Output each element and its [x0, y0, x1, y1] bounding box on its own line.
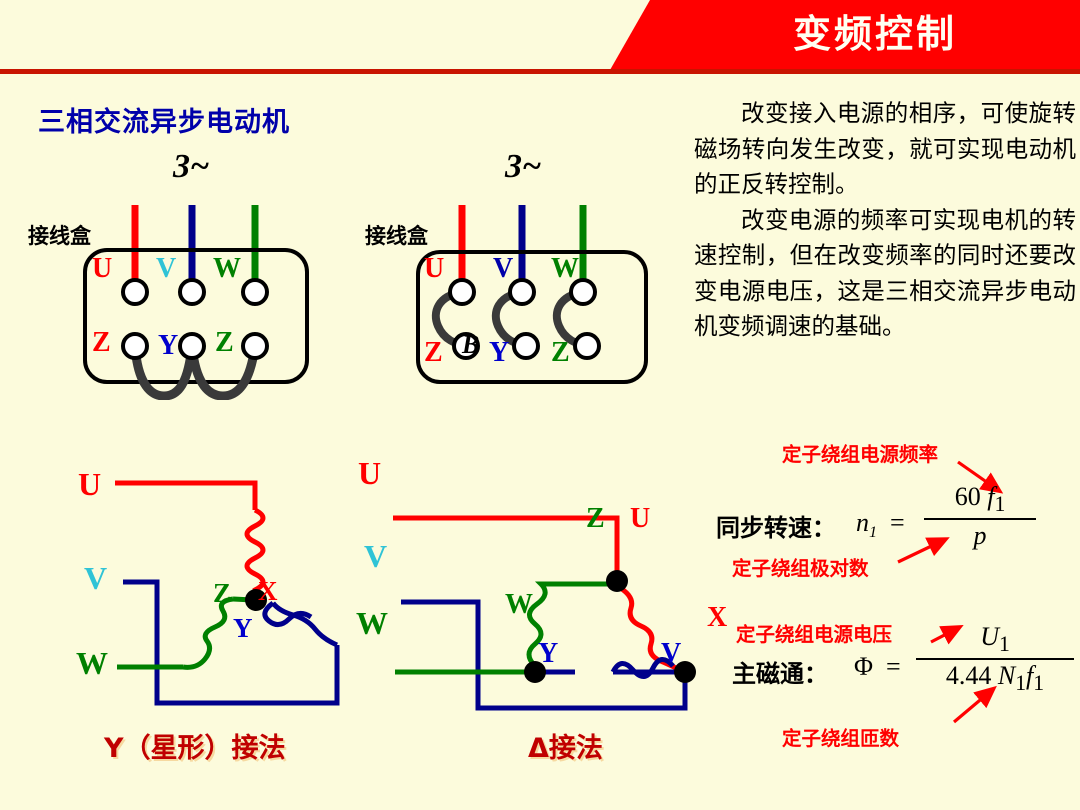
delta-wire-u — [393, 518, 617, 578]
delta-input-w: W — [356, 605, 388, 642]
delta-box-outline — [418, 252, 646, 382]
delta-caption: Δ接法 — [528, 726, 603, 765]
star-input-u: U — [78, 466, 101, 503]
flux-lhs: Φ — [854, 652, 873, 682]
delta-vertex-u: U — [630, 503, 650, 535]
star-label-u: U — [92, 253, 112, 285]
section-title: 三相交流异步电动机 — [38, 100, 290, 139]
delta-label-z1: Z — [424, 337, 443, 369]
formula-block: 定子绕组电源频率 同步转速： n1 = 60 f1 p 定子绕组极对数 — [694, 436, 1080, 766]
speed-arrow-to-p — [894, 532, 966, 568]
flux-fraction-bar — [916, 658, 1074, 660]
speed-num-const: 60 — [955, 482, 981, 511]
star-terminal-box-diagram — [60, 200, 390, 400]
delta-terminal-y — [514, 334, 538, 358]
star-node-y: Y — [233, 613, 253, 644]
star-label-y: Y — [158, 330, 178, 362]
delta-label-z2: Z — [551, 337, 570, 369]
delta-stray-glyph: B — [462, 330, 479, 360]
delta-vertex-z: Z — [586, 503, 605, 535]
star-node-z: Z — [213, 578, 231, 609]
flux-annotation-turns: 定子绕组匝数 — [782, 722, 899, 751]
flux-annotation-voltage: 定子绕组电源电压 — [736, 618, 892, 647]
star-label-z2: Z — [215, 327, 234, 359]
star-terminal-z1 — [123, 334, 147, 358]
delta-supply-label: 3~ — [505, 148, 541, 186]
flux-den-sub1: 1 — [1015, 671, 1026, 695]
star-supply-label: 3~ — [173, 148, 209, 186]
flux-den-sub2: 1 — [1033, 671, 1044, 695]
star-terminal-z2 — [243, 334, 267, 358]
delta-terminal-v — [510, 280, 534, 304]
slide-canvas: 变频控制 三相交流异步电动机 3~ 接线盒 U V W Z Y Z 3~ 接线盒 — [0, 0, 1080, 810]
delta-vertex-w: W — [505, 589, 533, 621]
speed-annotation-poles: 定子绕组极对数 — [732, 552, 869, 581]
star-label-z1: Z — [92, 327, 111, 359]
delta-label-u: U — [424, 253, 444, 285]
star-coil-z — [183, 599, 233, 667]
delta-vertex-y: Y — [538, 638, 558, 670]
delta-vertex-v: V — [661, 638, 681, 670]
delta-terminal-z2 — [575, 334, 599, 358]
flux-num-sub: 1 — [999, 632, 1010, 656]
star-terminal-u — [123, 280, 147, 304]
star-wire-u — [115, 483, 255, 510]
star-input-w: W — [76, 645, 108, 682]
banner-divider-rule — [0, 69, 1080, 74]
delta-node-top — [606, 570, 628, 592]
delta-input-u: U — [358, 455, 381, 492]
speed-lhs-var: n — [856, 508, 869, 537]
delta-terminal-box-diagram — [400, 200, 730, 400]
explanation-text: 改变接入电源的相序，可使旋转磁场转向发生改变，就可实现电动机的正反转控制。 改变… — [694, 96, 1076, 345]
star-label-w: W — [213, 253, 241, 285]
flux-formula-label: 主磁通： — [732, 654, 828, 689]
speed-formula-label: 同步转速： — [716, 508, 836, 543]
star-terminal-w — [243, 280, 267, 304]
delta-label-w: W — [551, 253, 579, 285]
flux-arrow-to-n1 — [948, 684, 1008, 728]
speed-num-sub: 1 — [994, 492, 1005, 516]
header-banner: 变频控制 — [0, 0, 1080, 73]
delta-input-v: V — [364, 538, 387, 575]
explanation-paragraph-1: 改变接入电源的相序，可使旋转磁场转向发生改变，就可实现电动机的正反转控制。 — [694, 96, 1076, 203]
flux-num-var: U — [980, 622, 999, 651]
flux-numerator: U1 — [916, 622, 1074, 657]
speed-lhs-sub: 1 — [869, 524, 877, 541]
speed-lhs: n1 — [856, 508, 877, 542]
star-input-v: V — [84, 560, 107, 597]
delta-label-v: V — [493, 253, 513, 285]
star-terminal-v — [180, 280, 204, 304]
page-title: 变频控制 — [710, 8, 1040, 60]
delta-label-y: Y — [489, 337, 509, 369]
explanation-paragraph-2: 改变电源的频率可实现电机的转速控制，但在改变频率的同时还要改变电源电压，这是三相… — [694, 203, 1076, 345]
star-node-x: X — [258, 576, 278, 607]
speed-den-var: p — [974, 521, 987, 550]
speed-fraction-bar — [924, 518, 1036, 520]
star-terminal-y — [180, 334, 204, 358]
star-label-v: V — [156, 253, 176, 285]
delta-schematic-diagram — [345, 450, 705, 720]
delta-terminal-u — [450, 280, 474, 304]
star-caption: Y（星形）接法 — [104, 726, 286, 765]
speed-numerator: 60 f1 — [924, 482, 1036, 517]
speed-annotation-frequency: 定子绕组电源频率 — [782, 438, 938, 467]
flux-equals: = — [886, 652, 901, 682]
